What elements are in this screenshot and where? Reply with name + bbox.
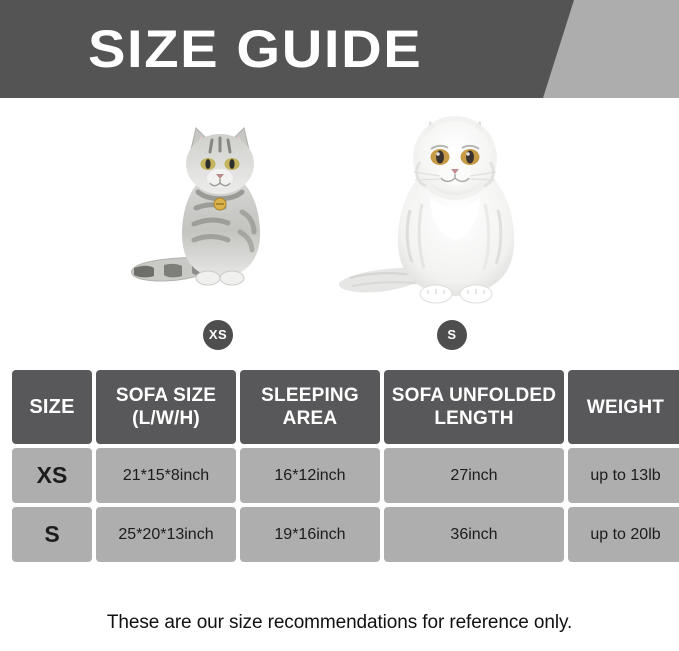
cell-sleeping-area: 16*12inch bbox=[240, 448, 380, 503]
cell-size: XS bbox=[12, 448, 92, 503]
column-header-sofa-size: SOFA SIZE (L/W/H) bbox=[96, 370, 236, 444]
table-row: XS 21*15*8inch 16*12inch 27inch up to 13… bbox=[12, 448, 679, 503]
size-badge-s: S bbox=[437, 320, 467, 350]
cell-sleeping-area: 19*16inch bbox=[240, 507, 380, 562]
column-header-sleeping-area-line1: SLEEPING bbox=[261, 385, 359, 406]
page-title: SIZE GUIDE bbox=[88, 22, 422, 78]
column-header-unfolded-length-line2: LENGTH bbox=[434, 408, 513, 429]
column-header-weight: WEIGHT bbox=[568, 370, 679, 444]
cell-size: S bbox=[12, 507, 92, 562]
cat-persian-icon bbox=[330, 100, 580, 315]
column-header-unfolded-length-line1: SOFA UNFOLDED bbox=[392, 385, 556, 406]
table-row: S 25*20*13inch 19*16inch 36inch up to 20… bbox=[12, 507, 679, 562]
size-badge-xs: XS bbox=[203, 320, 233, 350]
size-guide-table: SIZE SOFA SIZE (L/W/H) SLEEPING AREA SOF… bbox=[8, 366, 679, 566]
column-header-weight-line1: WEIGHT bbox=[587, 397, 664, 418]
cell-weight: up to 20lb bbox=[568, 507, 679, 562]
banner-accent-shape bbox=[539, 0, 679, 98]
table-header-row: SIZE SOFA SIZE (L/W/H) SLEEPING AREA SOF… bbox=[12, 370, 679, 444]
column-header-sleeping-area-line2: AREA bbox=[283, 408, 338, 429]
cell-unfolded-length: 27inch bbox=[384, 448, 564, 503]
column-header-sofa-size-line2: (L/W/H) bbox=[132, 408, 200, 429]
cell-unfolded-length: 36inch bbox=[384, 507, 564, 562]
cell-sofa-size: 25*20*13inch bbox=[96, 507, 236, 562]
cell-weight: up to 13lb bbox=[568, 448, 679, 503]
cat-photo-xs bbox=[120, 108, 320, 308]
header-banner: SIZE GUIDE bbox=[0, 0, 679, 98]
cat-photo-area: XS S bbox=[0, 98, 679, 360]
cell-sofa-size: 21*15*8inch bbox=[96, 448, 236, 503]
cat-tabby-icon bbox=[120, 108, 320, 308]
column-header-sofa-size-line1: SOFA SIZE bbox=[116, 385, 216, 406]
column-header-unfolded-length: SOFA UNFOLDED LENGTH bbox=[384, 370, 564, 444]
cat-photo-s bbox=[330, 100, 580, 315]
column-header-sleeping-area: SLEEPING AREA bbox=[240, 370, 380, 444]
footnote-text: These are our size recommendations for r… bbox=[0, 612, 679, 634]
column-header-size: SIZE bbox=[12, 370, 92, 444]
column-header-size-line1: SIZE bbox=[29, 396, 74, 418]
